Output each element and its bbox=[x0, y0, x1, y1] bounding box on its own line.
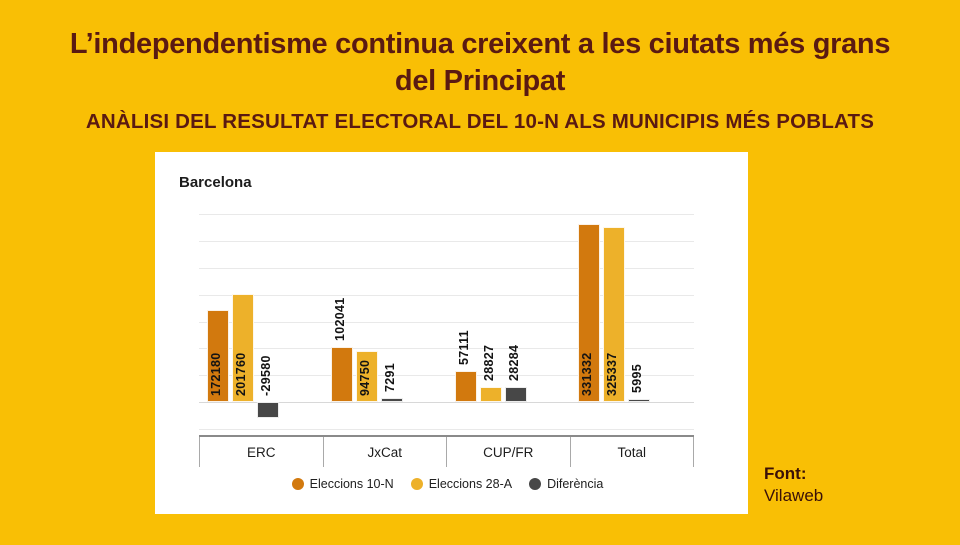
bar-value-label: 57111 bbox=[457, 331, 471, 366]
category-label: ERC bbox=[199, 437, 323, 467]
bar-value-label: 28827 bbox=[482, 344, 496, 380]
bar-value-label: 5995 bbox=[630, 364, 644, 393]
bars: 3313323253375995 bbox=[570, 214, 694, 429]
legend-swatch-icon bbox=[411, 478, 423, 490]
bar-value-label: 201760 bbox=[234, 353, 248, 397]
legend-item[interactable]: Diferència bbox=[529, 477, 603, 491]
poster-root: L’independentisme continua creixent a le… bbox=[0, 0, 960, 545]
bar-fill bbox=[628, 399, 650, 402]
bars: 172180201760-29580 bbox=[199, 214, 323, 429]
legend-label: Eleccions 10-N bbox=[310, 477, 394, 491]
category-label: Total bbox=[570, 437, 695, 467]
legend-label: Diferència bbox=[547, 477, 603, 491]
bar-value-label: 28284 bbox=[507, 345, 521, 381]
legend-label: Eleccions 28-A bbox=[429, 477, 512, 491]
chart-card: Barcelona 172180201760-29580102041947507… bbox=[155, 152, 748, 514]
page-title: L’independentisme continua creixent a le… bbox=[0, 26, 960, 100]
bar-fill bbox=[455, 371, 477, 402]
bar-group: 571112882728284 bbox=[447, 214, 571, 429]
gridline bbox=[199, 429, 694, 430]
chart-legend: Eleccions 10-NEleccions 28-ADiferència bbox=[155, 477, 748, 491]
bar-value-label: -29580 bbox=[259, 355, 273, 396]
bar-group: 102041947507291 bbox=[323, 214, 447, 429]
bar-value-label: 172180 bbox=[209, 353, 223, 397]
legend-item[interactable]: Eleccions 10-N bbox=[292, 477, 394, 491]
legend-swatch-icon bbox=[529, 478, 541, 490]
source-value: Vilaweb bbox=[764, 485, 823, 507]
chart-title: Barcelona bbox=[179, 174, 252, 191]
category-label: CUP/FR bbox=[446, 437, 570, 467]
bar-fill bbox=[505, 387, 527, 402]
bar-value-label: 7291 bbox=[383, 363, 397, 392]
bar-value-label: 102041 bbox=[333, 298, 347, 342]
plot-area: 172180201760-295801020419475072915711128… bbox=[199, 214, 694, 429]
bar-fill bbox=[257, 402, 279, 418]
legend-swatch-icon bbox=[292, 478, 304, 490]
bar-fill bbox=[381, 398, 403, 402]
bar-group: 172180201760-29580 bbox=[199, 214, 323, 429]
category-axis: ERCJxCatCUP/FRTotal bbox=[199, 435, 694, 467]
bar-group: 3313323253375995 bbox=[570, 214, 694, 429]
legend-item[interactable]: Eleccions 28-A bbox=[411, 477, 512, 491]
bar-value-label: 325337 bbox=[605, 353, 619, 397]
source-label: Font: bbox=[764, 463, 823, 485]
bar-groups: 172180201760-295801020419475072915711128… bbox=[199, 214, 694, 429]
source-note: Font: Vilaweb bbox=[764, 463, 823, 507]
bars: 571112882728284 bbox=[447, 214, 571, 429]
bar-fill bbox=[331, 347, 353, 402]
category-label: JxCat bbox=[323, 437, 447, 467]
bar-value-label: 94750 bbox=[358, 360, 372, 396]
bar-value-label: 331332 bbox=[580, 353, 594, 397]
bars: 102041947507291 bbox=[323, 214, 447, 429]
page-subtitle: ANÀLISI DEL RESULTAT ELECTORAL DEL 10-N … bbox=[0, 110, 960, 134]
bar-fill bbox=[480, 387, 502, 402]
